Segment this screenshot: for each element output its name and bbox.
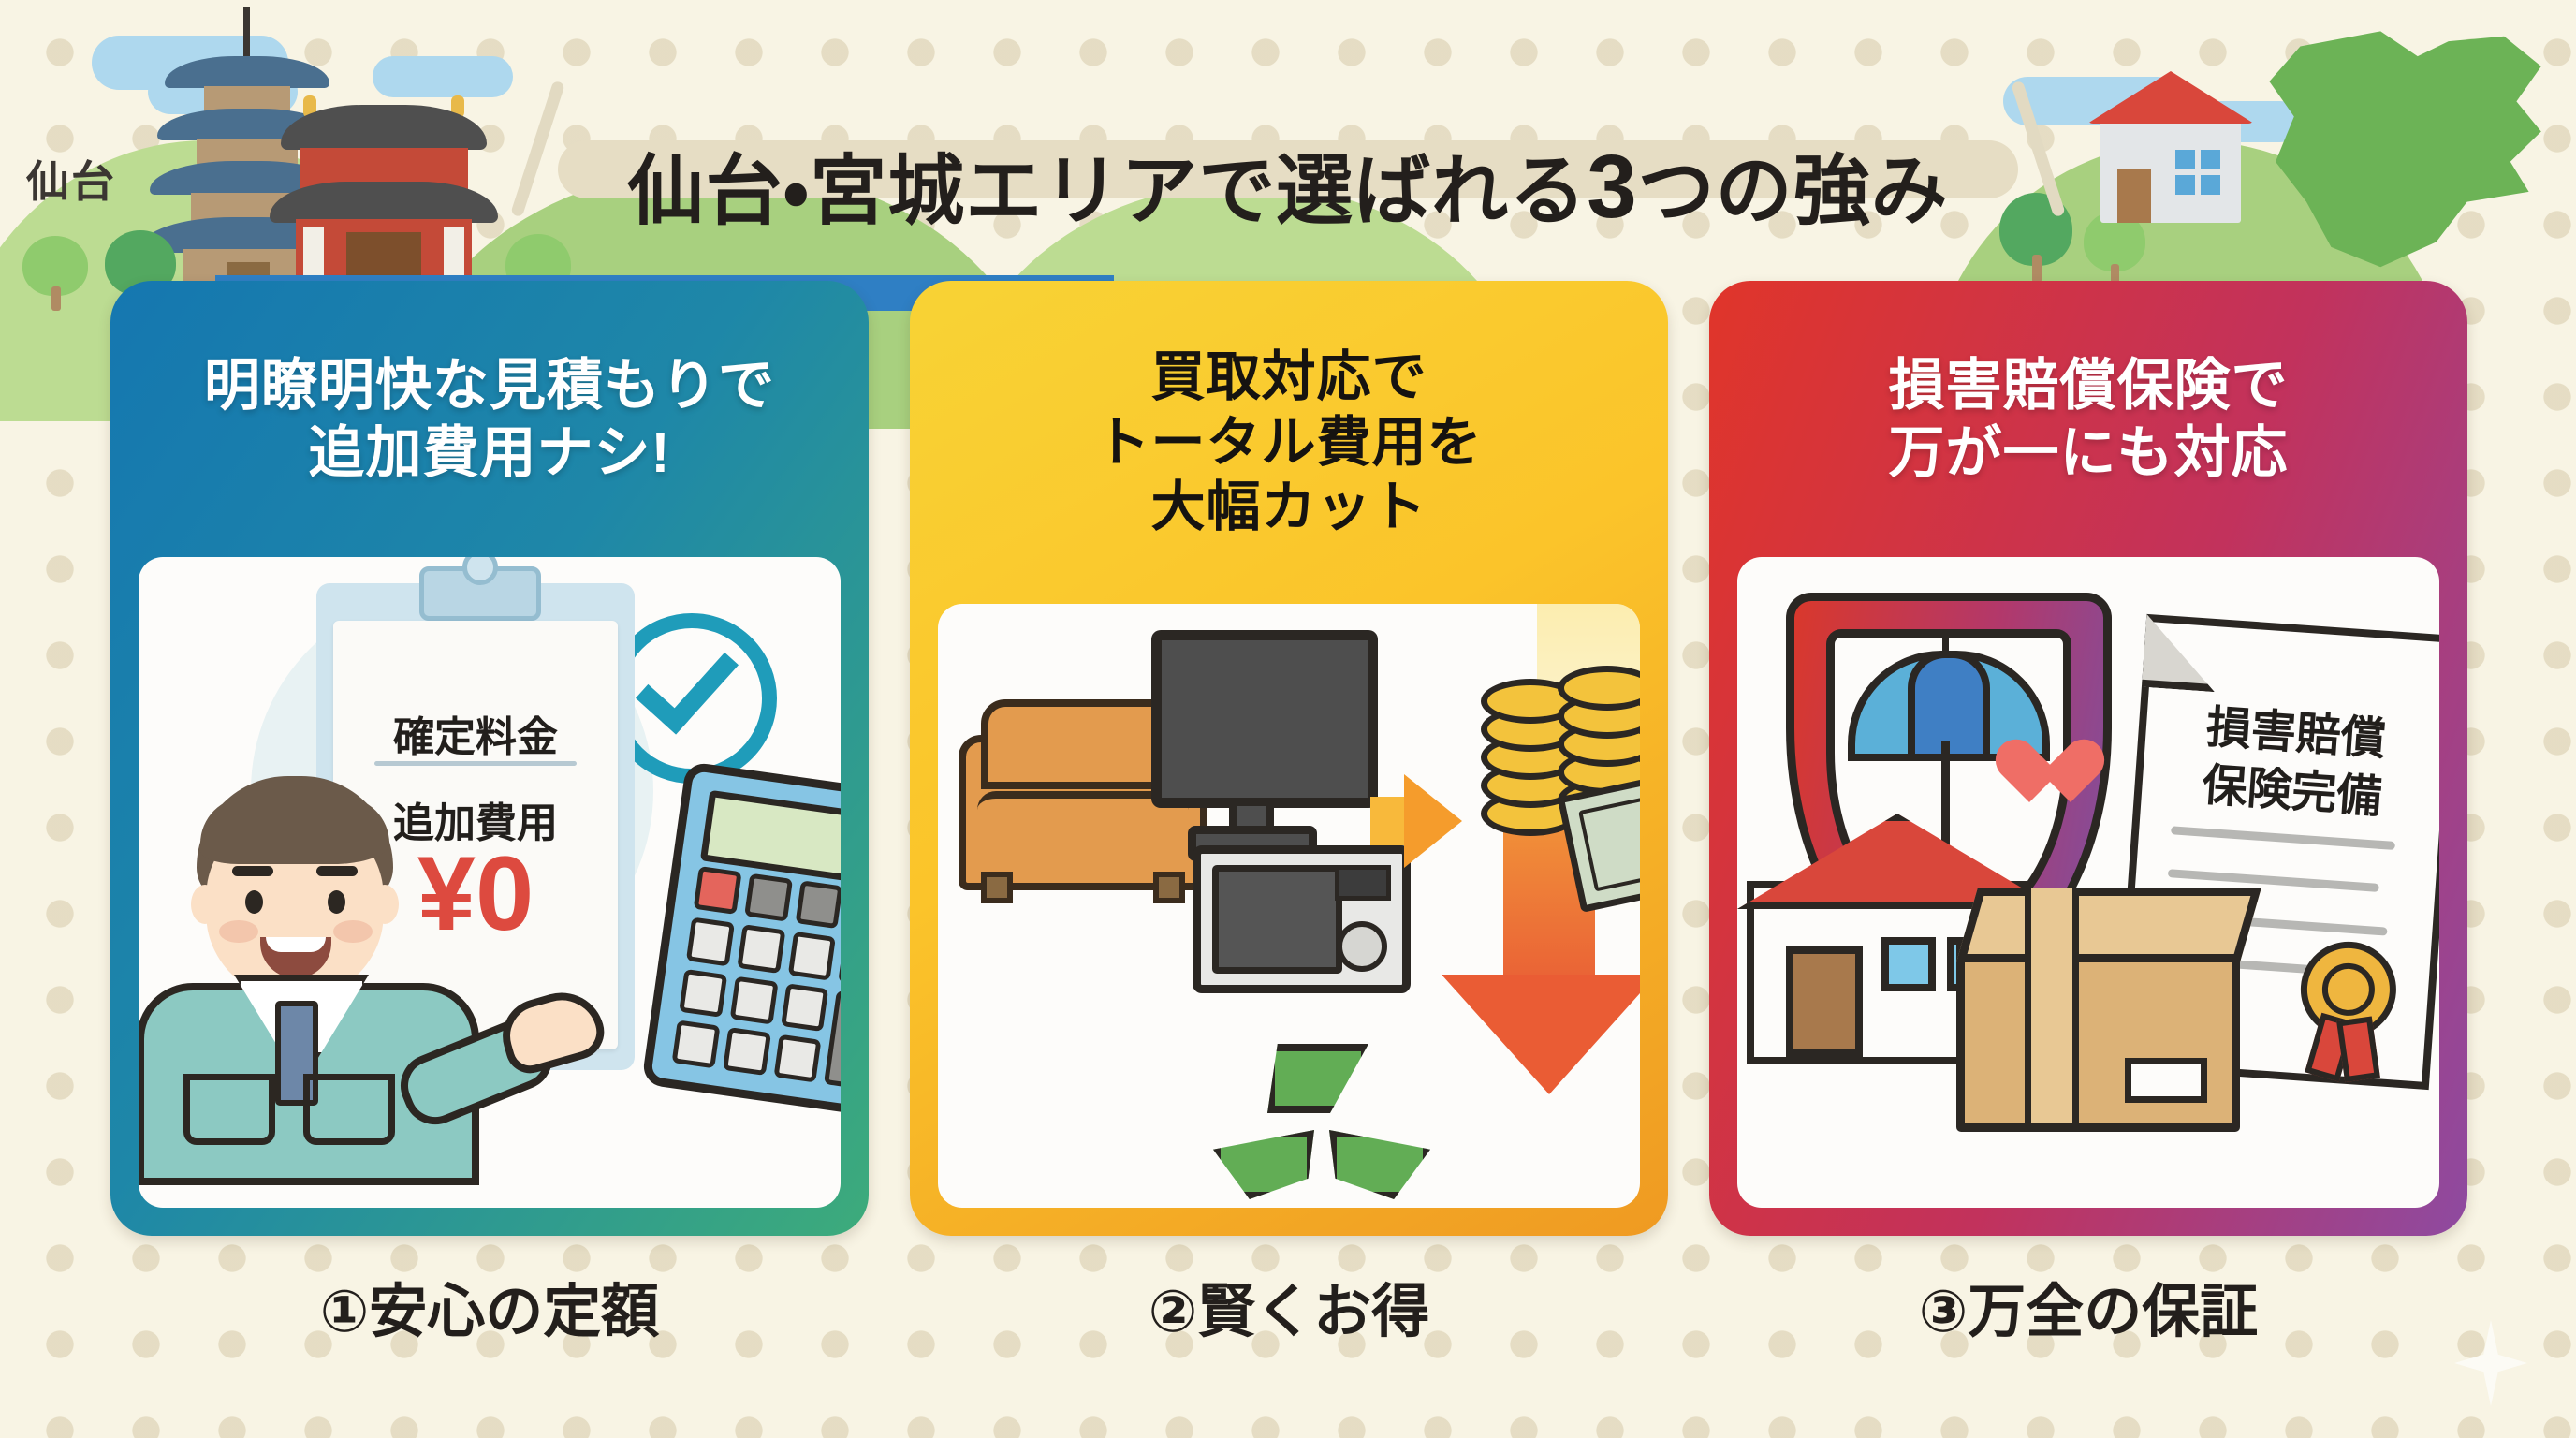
divider bbox=[374, 761, 577, 766]
page-title-main: 仙台・宮城エリアで選ばれる bbox=[627, 149, 1587, 234]
feature-card-purchase[interactable]: 買取対応で トータル費用を 大幅カット bbox=[910, 281, 1668, 1236]
page-title: 仙台・宮城エリアで選ばれる3つの強み bbox=[627, 138, 1948, 237]
card-title-line: 万が一にも対応 bbox=[1889, 419, 2289, 487]
card-title-line: 大幅カット bbox=[1095, 475, 1482, 540]
calculator-icon: 0 bbox=[641, 761, 841, 1119]
title-slash-right-icon bbox=[2011, 81, 2066, 218]
card-title-line: 追加費用ナシ! bbox=[204, 419, 775, 487]
card-title: 買取対応で トータル費用を 大幅カット bbox=[1095, 345, 1482, 540]
card-illustration: 確定料金 追加費用 ¥0 0 bbox=[139, 557, 841, 1208]
infographic-root: 仙台 仙台・宮城エリアで選ばれる3つの強み 明瞭明快な見積もりで 追加費用ナシ! bbox=[0, 0, 2576, 1438]
caption-estimate: ①安心の定額 bbox=[110, 1264, 869, 1348]
card-title-line: 買取対応で bbox=[1095, 345, 1482, 410]
card-title-line: 損害賠償保険で bbox=[1889, 352, 2289, 419]
worker-character-icon bbox=[139, 772, 532, 1166]
microwave-icon bbox=[1193, 845, 1411, 993]
card-title-line: トータル費用を bbox=[1095, 410, 1482, 476]
card-title: 損害賠償保険で 万が一にも対応 bbox=[1889, 352, 2289, 487]
page-title-area: 仙台・宮城エリアで選ばれる3つの強み bbox=[0, 86, 2576, 287]
page-title-suffix: つの強み bbox=[1638, 149, 1949, 234]
card-title-line: 明瞭明快な見積もりで bbox=[204, 352, 775, 419]
feature-card-estimate[interactable]: 明瞭明快な見積もりで 追加費用ナシ! 確定料金 追加費用 ¥0 bbox=[110, 281, 869, 1236]
card-captions: ①安心の定額 ②賢くお得 ③万全の保証 bbox=[0, 1264, 2576, 1376]
caption-purchase: ②賢くお得 bbox=[910, 1264, 1668, 1348]
down-arrow-head-icon bbox=[1442, 975, 1640, 1094]
recycle-icon bbox=[1209, 1044, 1425, 1208]
card-header: 買取対応で トータル費用を 大幅カット bbox=[910, 281, 1668, 604]
page-title-number: 3 bbox=[1587, 137, 1637, 237]
right-arrow-head-icon bbox=[1404, 774, 1462, 868]
card-illustration: 損害賠償 保険完備 bbox=[1737, 557, 2439, 1208]
caption-insurance: ③万全の保証 bbox=[1709, 1264, 2467, 1348]
card-header: 明瞭明快な見積もりで 追加費用ナシ! bbox=[110, 281, 869, 557]
title-slash-left-icon bbox=[510, 81, 565, 218]
cardboard-box-icon bbox=[1956, 937, 2240, 1132]
award-seal-icon bbox=[2297, 938, 2399, 1040]
heart-icon bbox=[2007, 742, 2076, 804]
clipboard-heading: 確定料金 bbox=[333, 703, 618, 763]
card-illustration bbox=[938, 604, 1640, 1208]
card-header: 損害賠償保険で 万が一にも対応 bbox=[1709, 281, 2467, 557]
card-title: 明瞭明快な見積もりで 追加費用ナシ! bbox=[204, 352, 775, 487]
feature-cards: 明瞭明快な見積もりで 追加費用ナシ! 確定料金 追加費用 ¥0 bbox=[0, 281, 2576, 1236]
tv-icon bbox=[1151, 630, 1378, 808]
feature-card-insurance[interactable]: 損害賠償保険で 万が一にも対応 損 bbox=[1709, 281, 2467, 1236]
